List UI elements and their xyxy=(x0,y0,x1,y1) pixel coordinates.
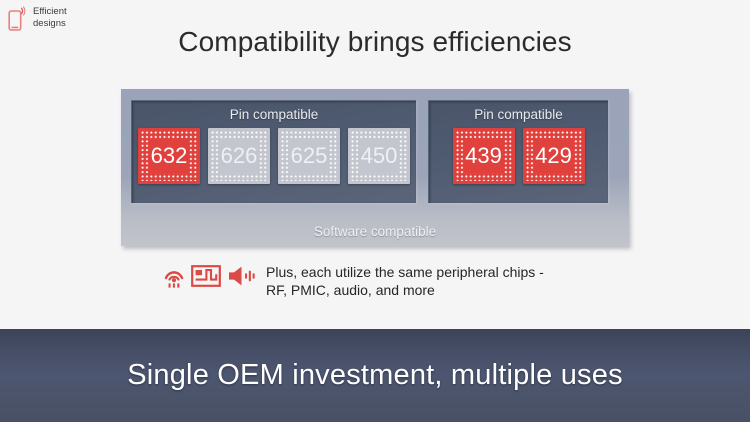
audio-speaker-icon xyxy=(227,265,255,292)
rf-antenna-icon xyxy=(163,264,185,293)
chip-number: 429 xyxy=(535,145,572,168)
chip-429[interactable]: 429 xyxy=(523,128,585,184)
pmic-chip-icon xyxy=(191,265,221,292)
chip-number: 632 xyxy=(151,145,188,168)
chip-number: 439 xyxy=(465,145,502,168)
chip-number: 626 xyxy=(221,145,258,168)
chip-row-right: 439 429 xyxy=(453,128,585,184)
chip-450[interactable]: 450 xyxy=(348,128,410,184)
software-compatible-label: Software compatible xyxy=(121,224,629,239)
chip-number: 450 xyxy=(361,145,398,168)
peripherals-note-group: Plus, each utilize the same peripheral c… xyxy=(163,262,544,299)
pin-compatible-panel-left: Pin compatible 632 626 625 xyxy=(131,100,416,203)
bottom-banner-text: Single OEM investment, multiple uses xyxy=(127,359,623,392)
chip-439[interactable]: 439 xyxy=(453,128,515,184)
panel-label-left: Pin compatible xyxy=(230,105,319,125)
bottom-banner: Single OEM investment, multiple uses xyxy=(0,329,750,422)
panel-group: Pin compatible 632 626 625 xyxy=(121,89,629,213)
chip-number: 625 xyxy=(291,145,328,168)
chip-632[interactable]: 632 xyxy=(138,128,200,184)
chip-row-left: 632 626 625 450 xyxy=(138,128,410,184)
peripherals-note-text: Plus, each utilize the same peripheral c… xyxy=(262,262,544,299)
pin-compatible-panel-right: Pin compatible 439 429 xyxy=(428,100,608,203)
chip-626[interactable]: 626 xyxy=(208,128,270,184)
peripheral-icon-group xyxy=(163,262,255,293)
chip-625[interactable]: 625 xyxy=(278,128,340,184)
panel-label-right: Pin compatible xyxy=(474,105,563,125)
page-title: Compatibility brings efficiencies xyxy=(0,26,750,58)
compatibility-diagram: Pin compatible 632 626 625 xyxy=(121,89,629,246)
